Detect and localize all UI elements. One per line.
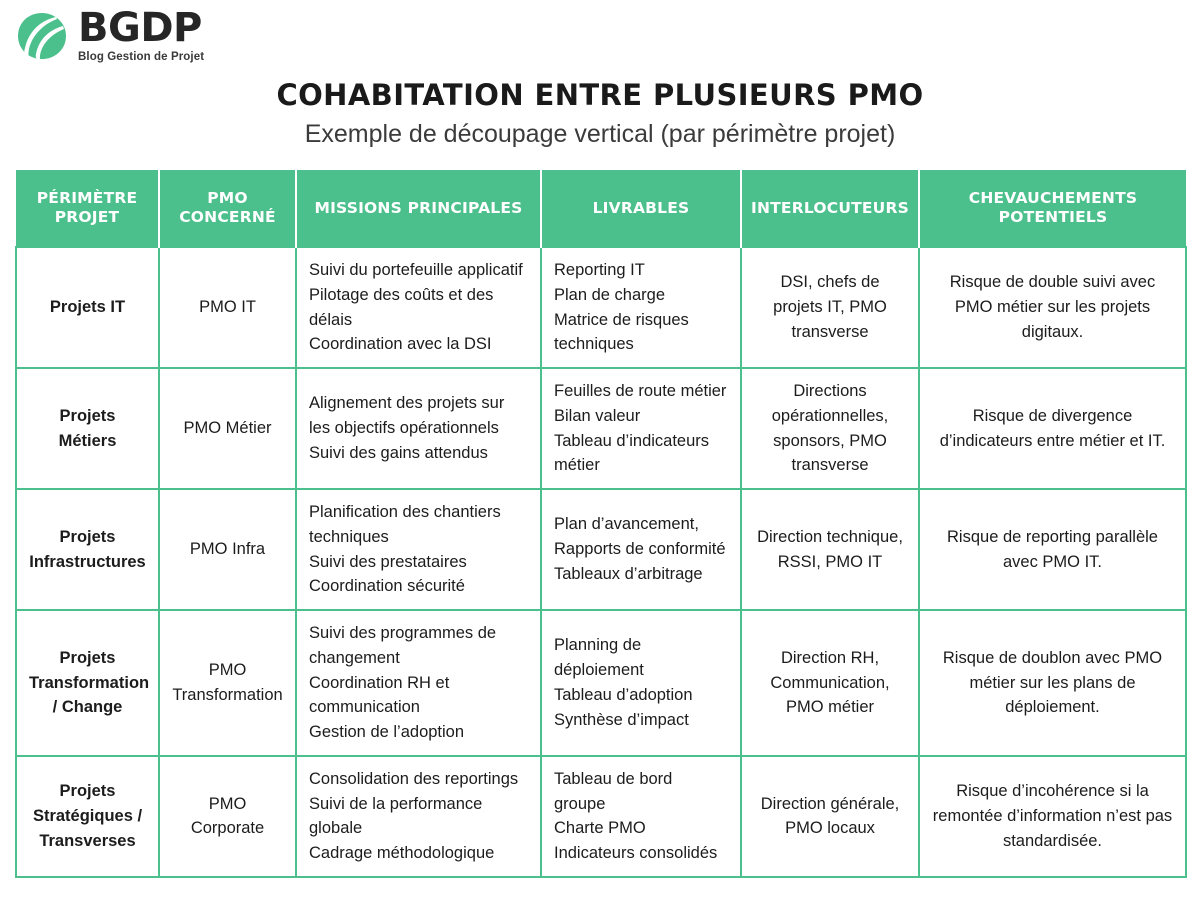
cell-missions: Alignement des projets sur les objectifs… — [296, 368, 541, 489]
cell-scope: Projets Métiers — [16, 368, 159, 489]
column-header-line: MISSIONS PRINCIPALES — [303, 199, 534, 218]
column-header-chevauchements-potentiels: CHEVAUCHEMENTS POTENTIELS — [919, 170, 1186, 247]
cell-missions: Planification des chantiers techniques S… — [296, 489, 541, 610]
list-item: Planning de déploiement — [554, 633, 728, 683]
list-item: Planification des chantiers techniques — [309, 500, 528, 550]
cell-deliverables: Reporting IT Plan de charge Matrice de r… — [541, 247, 741, 368]
cell-pmo: PMO IT — [159, 247, 296, 368]
list-item: Consolidation des reportings — [309, 767, 528, 792]
cell-scope: Projets Infrastructures — [16, 489, 159, 610]
brand-tagline: Blog Gestion de Projet — [78, 52, 204, 64]
column-header-lines: PMO CONCERNÉ — [166, 189, 289, 226]
cell-missions: Consolidation des reportings Suivi de la… — [296, 756, 541, 877]
matrix-table-wrapper: PÉRIMÈTRE PROJET PMO CONCERNÉ MISSIONS P… — [15, 170, 1185, 878]
table-header: PÉRIMÈTRE PROJET PMO CONCERNÉ MISSIONS P… — [16, 170, 1186, 247]
cell-scope: Projets Stratégiques / Transverses — [16, 756, 159, 877]
list-item: Tableau d’indicateurs métier — [554, 429, 728, 479]
list-item: Tableau d’adoption — [554, 683, 728, 708]
column-header-interlocuteurs: INTERLOCUTEURS — [741, 170, 919, 247]
list-item: Plan de charge — [554, 283, 728, 308]
cell-overlaps: Risque de double suivi avec PMO métier s… — [919, 247, 1186, 368]
column-header-line: INTERLOCUTEURS — [748, 199, 912, 218]
column-header-line: PMO — [166, 189, 289, 208]
column-header-missions-principales: MISSIONS PRINCIPALES — [296, 170, 541, 247]
missions-list: Consolidation des reportings Suivi de la… — [309, 767, 528, 866]
cell-overlaps: Risque d’incohérence si la remontée d’in… — [919, 756, 1186, 877]
list-item: Reporting IT — [554, 258, 728, 283]
list-item: Indicateurs consolidés — [554, 841, 728, 866]
missions-list: Suivi du portefeuille applicatif Pilotag… — [309, 258, 528, 357]
cell-deliverables: Feuilles de route métier Bilan valeur Ta… — [541, 368, 741, 489]
column-header-line: CHEVAUCHEMENTS — [926, 189, 1180, 208]
deliverables-list: Planning de déploiement Tableau d’adopti… — [554, 633, 728, 732]
title-block: COHABITATION ENTRE PLUSIEURS PMO Exemple… — [0, 78, 1200, 149]
deliverables-list: Feuilles de route métier Bilan valeur Ta… — [554, 379, 728, 478]
page-subtitle: Exemple de découpage vertical (par périm… — [0, 120, 1200, 149]
cell-scope: Projets IT — [16, 247, 159, 368]
cell-contacts: DSI, chefs de projets IT, PMO transverse — [741, 247, 919, 368]
cell-contacts: Direction générale, PMO locaux — [741, 756, 919, 877]
column-header-line: PROJET — [22, 208, 152, 227]
deliverables-list: Plan d’avancement, Rapports de conformit… — [554, 512, 728, 586]
table-header-row: PÉRIMÈTRE PROJET PMO CONCERNÉ MISSIONS P… — [16, 170, 1186, 247]
list-item: Gestion de l’adoption — [309, 720, 528, 745]
table-body: Projets IT PMO IT Suivi du portefeuille … — [16, 247, 1186, 877]
brand-text: BGDP Blog Gestion de Projet — [78, 8, 204, 64]
cell-missions: Suivi du portefeuille applicatif Pilotag… — [296, 247, 541, 368]
cell-pmo: PMO Transformation — [159, 610, 296, 756]
list-item: Plan d’avancement, — [554, 512, 728, 537]
table-row: Projets Métiers PMO Métier Alignement de… — [16, 368, 1186, 489]
list-item: Feuilles de route métier — [554, 379, 728, 404]
cell-pmo: PMO Métier — [159, 368, 296, 489]
column-header-perimetre-projet: PÉRIMÈTRE PROJET — [16, 170, 159, 247]
list-item: Suivi de la performance globale — [309, 792, 528, 842]
column-header-lines: CHEVAUCHEMENTS POTENTIELS — [926, 189, 1180, 226]
pmo-cohabitation-table: PÉRIMÈTRE PROJET PMO CONCERNÉ MISSIONS P… — [15, 170, 1187, 878]
table-row: Projets Transformation / Change PMO Tran… — [16, 610, 1186, 756]
column-header-line: CONCERNÉ — [166, 208, 289, 227]
column-header-lines: LIVRABLES — [548, 199, 734, 218]
list-item: Tableaux d’arbitrage — [554, 562, 728, 587]
cell-overlaps: Risque de reporting parallèle avec PMO I… — [919, 489, 1186, 610]
column-header-pmo-concerne: PMO CONCERNÉ — [159, 170, 296, 247]
column-header-livrables: LIVRABLES — [541, 170, 741, 247]
missions-list: Suivi des programmes de changement Coord… — [309, 621, 528, 745]
list-item: Bilan valeur — [554, 404, 728, 429]
poster-page: BGDP Blog Gestion de Projet COHABITATION… — [0, 0, 1200, 900]
column-header-lines: INTERLOCUTEURS — [748, 199, 912, 218]
column-header-line: LIVRABLES — [548, 199, 734, 218]
list-item: Coordination sécurité — [309, 574, 528, 599]
cell-deliverables: Planning de déploiement Tableau d’adopti… — [541, 610, 741, 756]
cell-missions: Suivi des programmes de changement Coord… — [296, 610, 541, 756]
list-item: Suivi des prestataires — [309, 550, 528, 575]
cell-contacts: Direction technique, RSSI, PMO IT — [741, 489, 919, 610]
cell-scope: Projets Transformation / Change — [16, 610, 159, 756]
brand-logo: BGDP Blog Gestion de Projet — [16, 8, 204, 64]
list-item: Charte PMO — [554, 816, 728, 841]
list-item: Pilotage des coûts et des délais — [309, 283, 528, 333]
column-header-lines: MISSIONS PRINCIPALES — [303, 199, 534, 218]
list-item: Suivi du portefeuille applicatif — [309, 258, 528, 283]
cell-pmo: PMO Infra — [159, 489, 296, 610]
cell-deliverables: Plan d’avancement, Rapports de conformit… — [541, 489, 741, 610]
cell-overlaps: Risque de divergence d’indicateurs entre… — [919, 368, 1186, 489]
list-item: Suivi des gains attendus — [309, 441, 528, 466]
cell-overlaps: Risque de doublon avec PMO métier sur le… — [919, 610, 1186, 756]
cell-deliverables: Tableau de bord groupe Charte PMO Indica… — [541, 756, 741, 877]
table-row: Projets IT PMO IT Suivi du portefeuille … — [16, 247, 1186, 368]
column-header-lines: PÉRIMÈTRE PROJET — [22, 189, 152, 226]
list-item: Matrice de risques techniques — [554, 308, 728, 358]
table-row: Projets Infrastructures PMO Infra Planif… — [16, 489, 1186, 610]
missions-list: Alignement des projets sur les objectifs… — [309, 391, 528, 465]
list-item: Coordination RH et communication — [309, 671, 528, 721]
table-row: Projets Stratégiques / Transverses PMO C… — [16, 756, 1186, 877]
list-item: Alignement des projets sur les objectifs… — [309, 391, 528, 441]
page-title: COHABITATION ENTRE PLUSIEURS PMO — [0, 78, 1200, 112]
deliverables-list: Reporting IT Plan de charge Matrice de r… — [554, 258, 728, 357]
deliverables-list: Tableau de bord groupe Charte PMO Indica… — [554, 767, 728, 866]
green-leaf-icon — [16, 10, 68, 62]
list-item: Tableau de bord groupe — [554, 767, 728, 817]
brand-name: BGDP — [78, 8, 204, 48]
missions-list: Planification des chantiers techniques S… — [309, 500, 528, 599]
list-item: Coordination avec la DSI — [309, 332, 528, 357]
list-item: Synthèse d’impact — [554, 708, 728, 733]
cell-contacts: Directions opérationnelles, sponsors, PM… — [741, 368, 919, 489]
cell-contacts: Direction RH, Communication, PMO métier — [741, 610, 919, 756]
list-item: Suivi des programmes de changement — [309, 621, 528, 671]
cell-pmo: PMO Corporate — [159, 756, 296, 877]
column-header-line: PÉRIMÈTRE — [22, 189, 152, 208]
column-header-line: POTENTIELS — [926, 208, 1180, 227]
list-item: Cadrage méthodologique — [309, 841, 528, 866]
list-item: Rapports de conformité — [554, 537, 728, 562]
